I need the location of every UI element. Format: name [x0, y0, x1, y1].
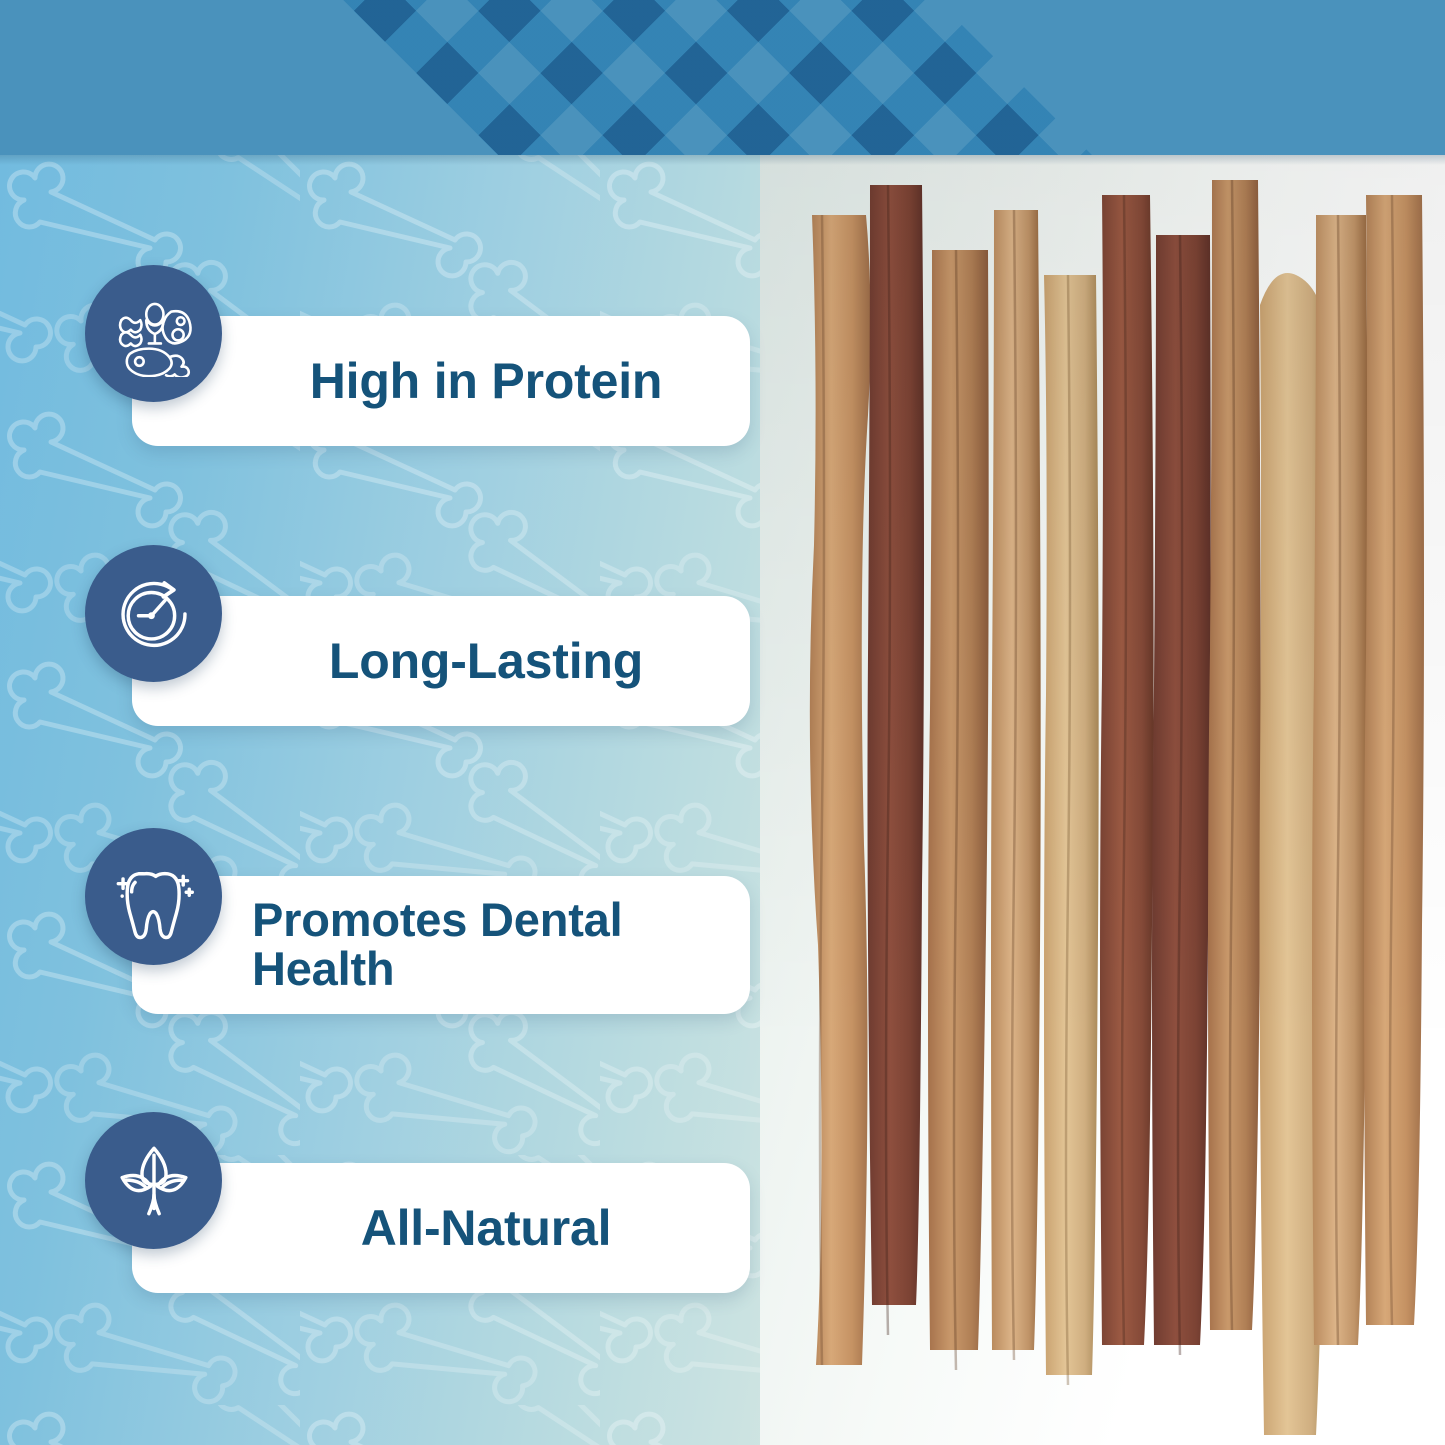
feature-label: Long-Lasting: [252, 635, 720, 688]
argyle-plaid-banner: [0, 0, 1445, 155]
feature-pill[interactable]: Long-Lasting: [132, 596, 750, 726]
banner-shadow: [0, 155, 1445, 165]
product-feature-infographic: High in Protein: [0, 0, 1445, 1445]
plaid-pattern: [0, 0, 1445, 155]
clock-arrow-icon: [85, 545, 222, 682]
sparkling-tooth-icon: [85, 828, 222, 965]
bully-sticks-illustration: [760, 155, 1445, 1445]
feature-label: Promotes Dental Health: [252, 896, 720, 994]
feature-label: All-Natural: [252, 1202, 720, 1255]
feature-pill[interactable]: High in Protein: [132, 316, 750, 446]
bully-sticks-photo: [760, 155, 1445, 1445]
protein-meat-icon: [85, 265, 222, 402]
feature-pill[interactable]: Promotes Dental Health: [132, 876, 750, 1014]
feature-pill[interactable]: All-Natural: [132, 1163, 750, 1293]
feature-label: High in Protein: [252, 355, 720, 408]
leaf-plant-icon: [85, 1112, 222, 1249]
